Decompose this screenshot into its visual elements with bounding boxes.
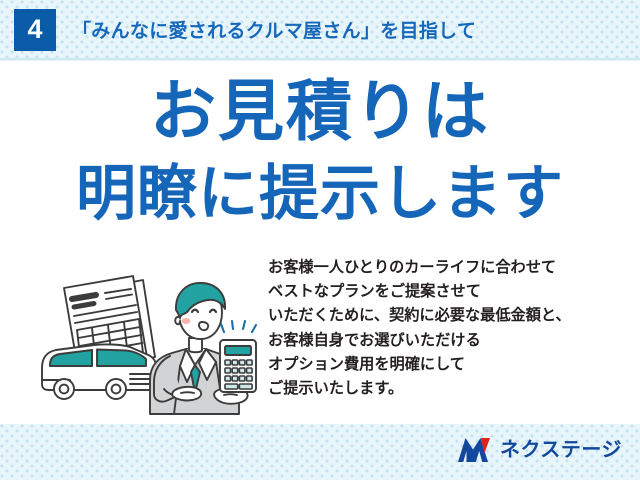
brand-lockup: ネクステージ xyxy=(457,437,622,463)
body-copy: お客様一人ひとりのカーライフに合わせて ベストなプランをご提案させて いただくた… xyxy=(268,256,628,401)
body-copy-line: お客様自身でお選びいただける xyxy=(268,329,628,353)
body-copy-line: お客様一人ひとりのカーライフに合わせて xyxy=(268,256,628,280)
body-copy-line: ご提示いたします。 xyxy=(268,377,628,401)
brand-name: ネクステージ xyxy=(500,440,622,460)
headline-line-2: 明瞭に提示します xyxy=(0,164,640,230)
body-copy-line: ベストなプランをご提案させて xyxy=(268,280,628,304)
nextage-n-logo-icon xyxy=(457,437,491,463)
body-copy-line: いただくために、契約に必要な最低金額と、 xyxy=(268,304,628,328)
header-bar: 4 「みんなに愛されるクルマ屋さん」を目指して xyxy=(0,0,640,59)
headline-line-1: お見積りは xyxy=(0,78,640,150)
illustration-salesman-quotation xyxy=(34,262,270,418)
header-title: 「みんなに愛されるクルマ屋さん」を目指して xyxy=(72,16,476,43)
calculator-illustration xyxy=(220,340,256,392)
step-number-badge: 4 xyxy=(14,9,56,51)
header-divider-soft xyxy=(0,60,640,61)
promo-slide: 4 「みんなに愛されるクルマ屋さん」を目指して お見積りは 明瞭に提示します お… xyxy=(0,0,640,480)
body-copy-line: オプション費用を明確にして xyxy=(268,353,628,377)
footer-bar: ネクステージ xyxy=(0,424,640,480)
van-illustration xyxy=(42,344,156,399)
headline: お見積りは 明瞭に提示します xyxy=(0,78,640,230)
sparkle-marks xyxy=(221,321,256,332)
